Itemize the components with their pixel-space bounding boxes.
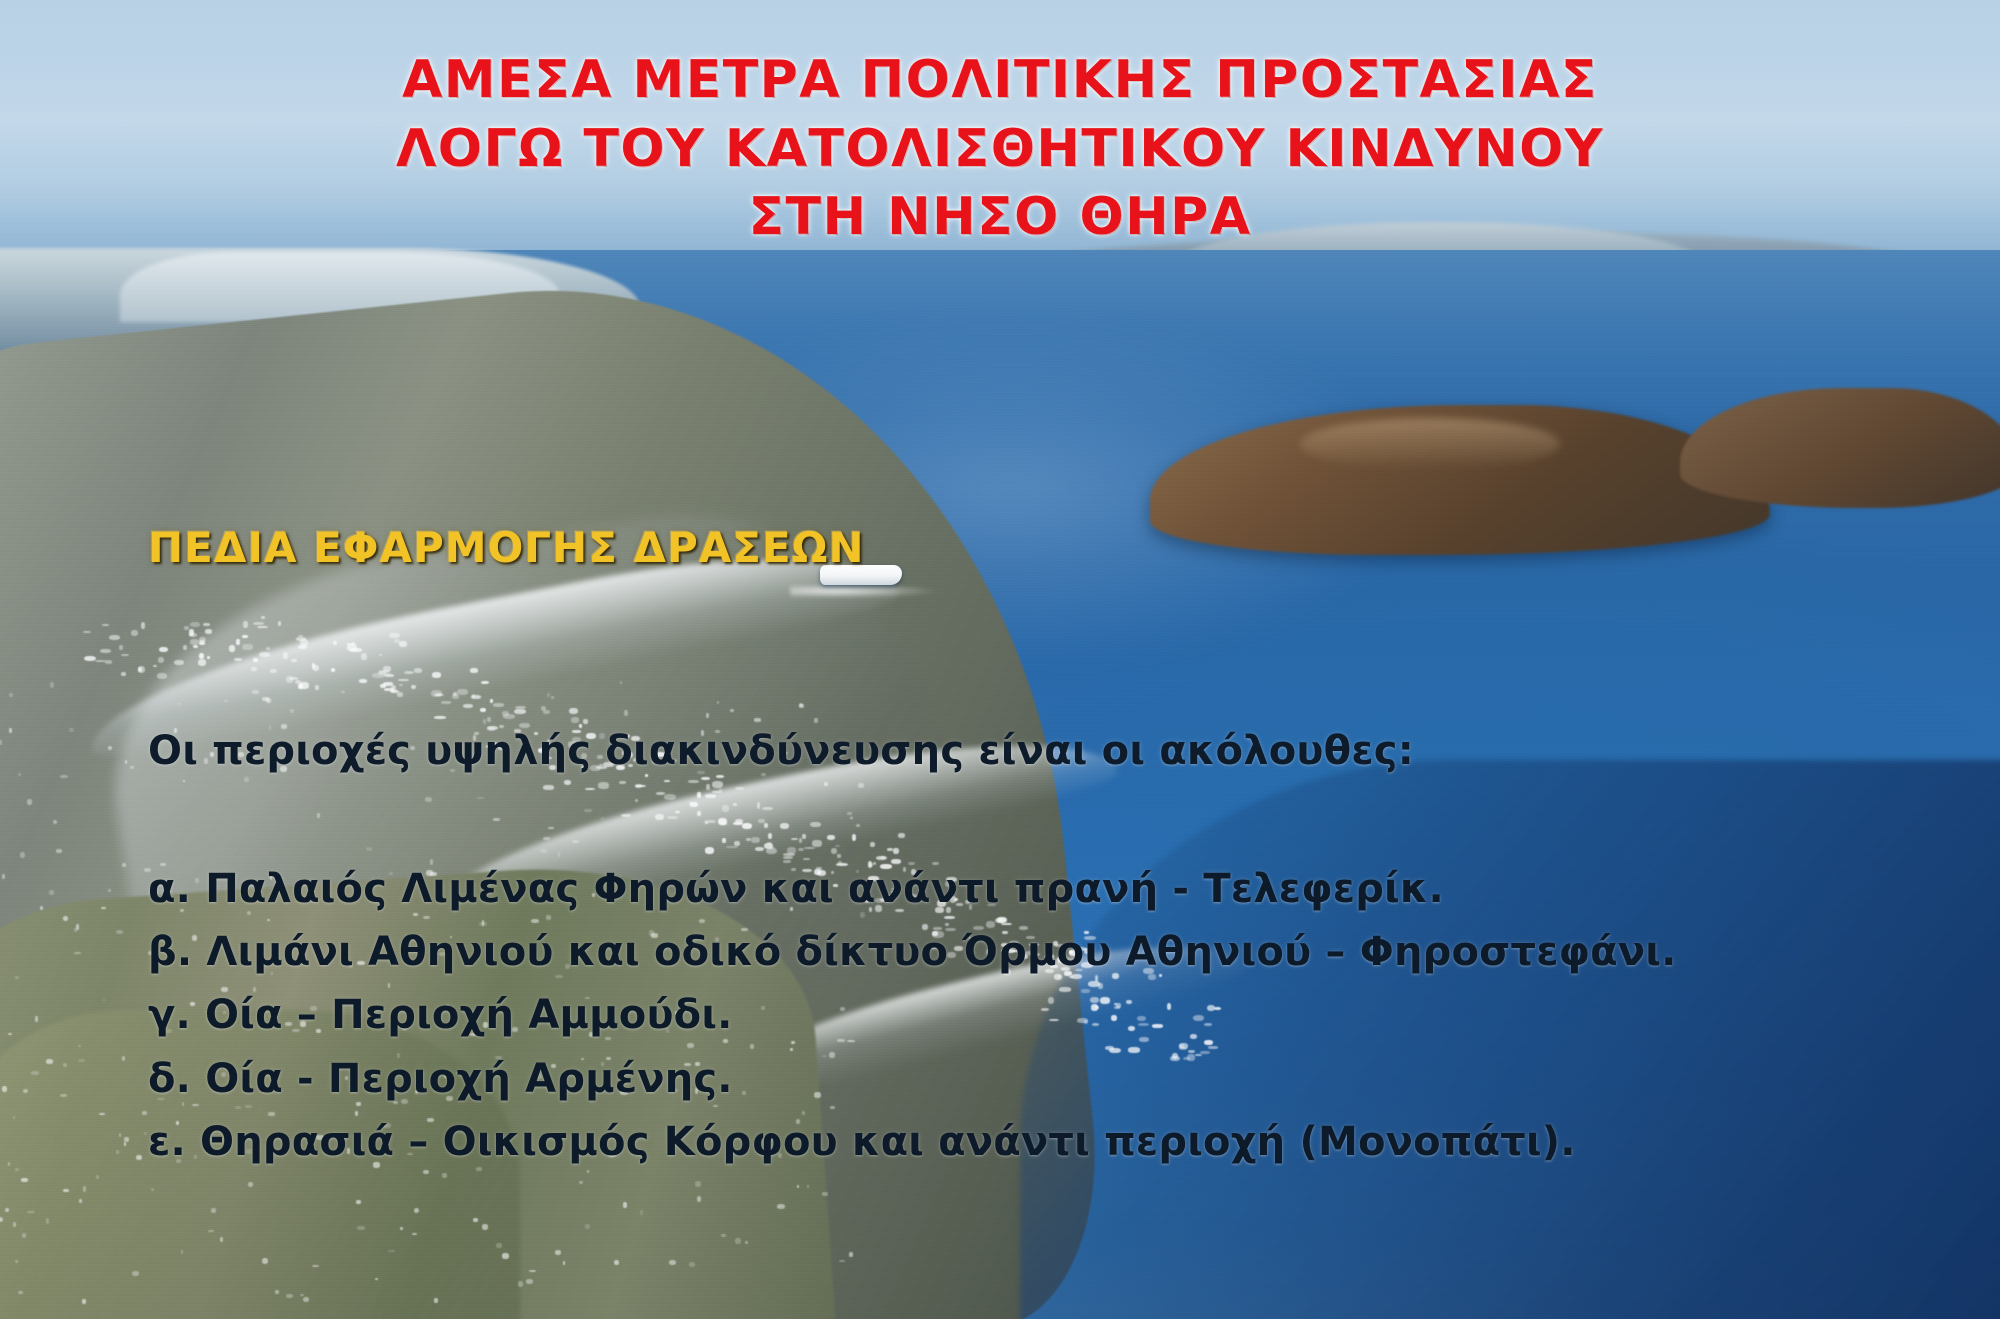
list-item: ε. Θηρασιά – Οικισμός Κόρφου και ανάντι … (148, 1111, 1676, 1174)
title-line-2: ΛΟΓΩ ΤΟΥ ΚΑΤΟΛΙΣΘΗΤΙΚΟΥ ΚΙΝΔΥΝΟΥ (0, 115, 2000, 184)
high-risk-areas-list: α. Παλαιός Λιμένας Φηρών και ανάντι πραν… (148, 858, 1676, 1174)
presentation-slide: ΑΜΕΣΑ ΜΕΤΡΑ ΠΟΛΙΤΙΚΗΣ ΠΡΟΣΤΑΣΙΑΣ ΛΟΓΩ ΤΟ… (0, 0, 2000, 1319)
section-heading: ΠΕΔΙΑ ΕΦΑΡΜΟΓΗΣ ΔΡΑΣΕΩΝ (148, 523, 865, 572)
slide-title: ΑΜΕΣΑ ΜΕΤΡΑ ΠΟΛΙΤΙΚΗΣ ΠΡΟΣΤΑΣΙΑΣ ΛΟΓΩ ΤΟ… (0, 46, 2000, 252)
list-item: γ. Οία – Περιοχή Αμμούδι. (148, 984, 1676, 1047)
list-item: δ. Οία - Περιοχή Αρμένης. (148, 1048, 1676, 1111)
list-item: β. Λιμάνι Αθηνιού και οδικό δίκτυο Όρμου… (148, 921, 1676, 984)
title-line-1: ΑΜΕΣΑ ΜΕΤΡΑ ΠΟΛΙΤΙΚΗΣ ΠΡΟΣΤΑΣΙΑΣ (0, 46, 2000, 115)
slide-content: ΑΜΕΣΑ ΜΕΤΡΑ ΠΟΛΙΤΙΚΗΣ ΠΡΟΣΤΑΣΙΑΣ ΛΟΓΩ ΤΟ… (0, 0, 2000, 1319)
list-item: α. Παλαιός Λιμένας Φηρών και ανάντι πραν… (148, 858, 1676, 921)
intro-paragraph: Οι περιοχές υψηλής διακινδύνευσης είναι … (148, 728, 1414, 774)
title-line-3: ΣΤΗ ΝΗΣΟ ΘΗΡΑ (0, 183, 2000, 252)
